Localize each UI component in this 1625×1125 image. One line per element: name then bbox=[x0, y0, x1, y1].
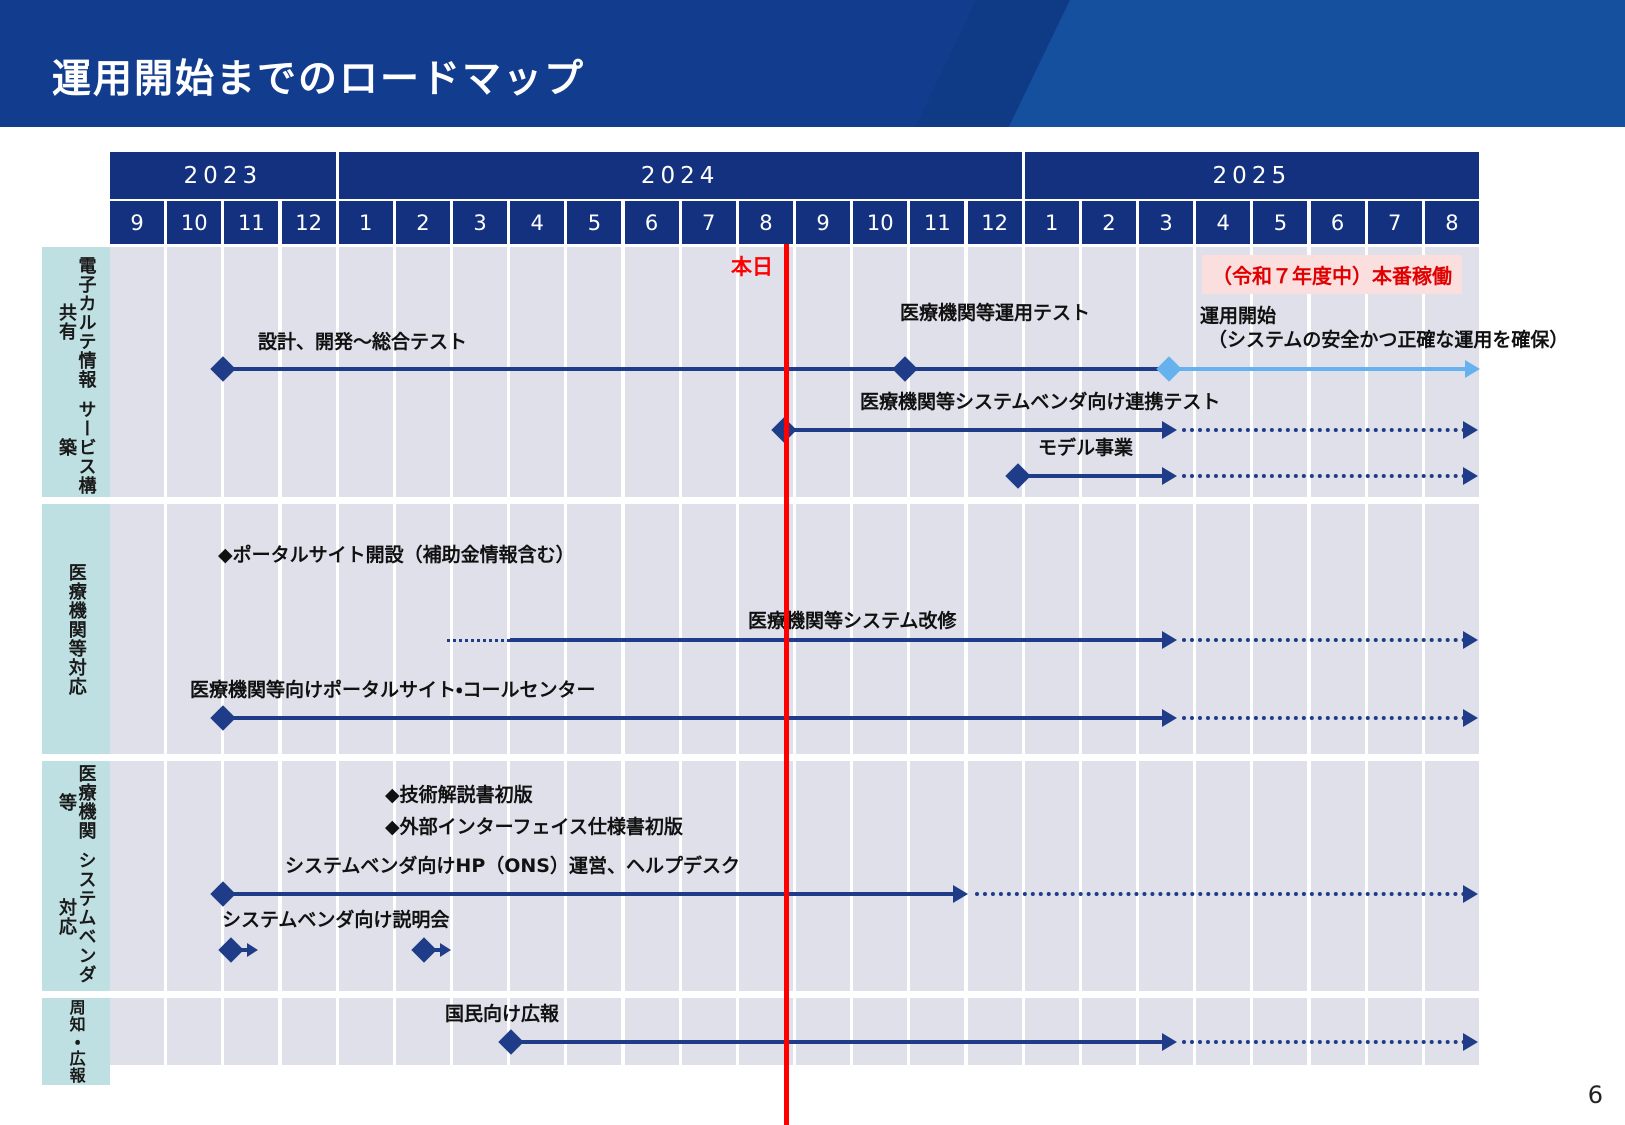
arrowhead-vendor-hp-ons-end bbox=[1463, 885, 1478, 903]
month-header-row: 910111212345678910111212345678 bbox=[110, 201, 1482, 244]
grid-column-0 bbox=[110, 247, 164, 1065]
category-label-iryo-kikan: 医療機関等対応 bbox=[42, 504, 110, 754]
task-label-operation-start-line2: （システムの安全かつ正確な運用を確保） bbox=[1208, 329, 1568, 353]
month-cell-21: 6 bbox=[1311, 201, 1365, 244]
arrowhead-model-project bbox=[1162, 467, 1177, 485]
arrowhead-public-pr-end bbox=[1463, 1033, 1478, 1051]
category-text-denshi-karte-2: サービス構築 bbox=[57, 397, 96, 497]
band-separator-2 bbox=[110, 991, 1482, 998]
bar-system-kaishu-continuation bbox=[1182, 638, 1466, 642]
month-cell-14: 11 bbox=[910, 201, 964, 244]
month-cell-9: 6 bbox=[625, 201, 679, 244]
today-marker-label: 本日 bbox=[731, 251, 773, 281]
arrowhead-public-pr bbox=[1162, 1033, 1177, 1051]
task-label-system-kaishu: 医療機関等システム改修 bbox=[748, 610, 956, 634]
category-text-vendor-2: システムベンダ対応 bbox=[57, 843, 96, 991]
month-cell-20: 5 bbox=[1253, 201, 1307, 244]
year-cell-2025: 2025 bbox=[1025, 152, 1479, 199]
month-cell-5: 2 bbox=[396, 201, 450, 244]
bar-vendor-link-test-continuation bbox=[1182, 428, 1466, 432]
bar-public-pr-continuation bbox=[1182, 1040, 1466, 1044]
arrowhead-vendor-briefing-1 bbox=[247, 943, 258, 957]
today-marker-line bbox=[784, 244, 789, 1125]
month-cell-10: 7 bbox=[682, 201, 736, 244]
bar-model-project bbox=[1018, 474, 1162, 478]
title-banner: 運用開始までのロードマップ bbox=[0, 0, 1625, 127]
bar-medical-op-test bbox=[905, 367, 1161, 371]
milestone-label-portal-site: ◆ポータルサイト開設（補助金情報含む） bbox=[218, 544, 575, 568]
month-cell-23: 8 bbox=[1425, 201, 1479, 244]
band-separator-1 bbox=[110, 754, 1482, 761]
month-cell-0: 9 bbox=[110, 201, 164, 244]
category-label-shuchi-koho: 周知・ 広報 bbox=[42, 998, 110, 1085]
month-cell-6: 3 bbox=[453, 201, 507, 244]
month-cell-19: 4 bbox=[1196, 201, 1250, 244]
category-label-denshi-karte: 電子カルテ情報共有 サービス構築 bbox=[42, 247, 110, 497]
category-text-iryo-kikan-1: 医療機関等対応 bbox=[66, 563, 85, 696]
bar-vendor-link-test bbox=[784, 428, 1162, 432]
bar-design-dev-test bbox=[223, 367, 905, 371]
band-separator-0 bbox=[110, 497, 1482, 504]
year-cell-2023: 2023 bbox=[110, 152, 336, 199]
bar-model-project-continuation bbox=[1182, 474, 1466, 478]
month-cell-15: 12 bbox=[968, 201, 1022, 244]
bar-portal-callcenter bbox=[223, 716, 1162, 720]
category-text-vendor-1: 医療機関等 bbox=[57, 761, 96, 843]
page-title: 運用開始までのロードマップ bbox=[52, 48, 585, 104]
month-cell-2: 11 bbox=[224, 201, 278, 244]
bar-vendor-briefing-2 bbox=[425, 948, 441, 952]
task-label-vendor-hp-ons: システムベンダ向けHP（ONS）運営、ヘルプデスク bbox=[285, 855, 740, 879]
arrowhead-portal-callcenter bbox=[1162, 709, 1177, 727]
task-label-model-project: モデル事業 bbox=[1038, 437, 1133, 461]
month-cell-16: 1 bbox=[1025, 201, 1079, 244]
bar-portal-callcenter-continuation bbox=[1182, 716, 1466, 720]
bar-vendor-hp-ons-continuation bbox=[975, 892, 1466, 896]
task-label-medical-op-test: 医療機関等運用テスト bbox=[900, 302, 1090, 326]
task-label-portal-callcenter: 医療機関等向けポータルサイト・コールセンター bbox=[190, 679, 595, 703]
gantt-plot-area: 設計、開発〜総合テスト 医療機関等運用テスト 運用開始 （システムの安全かつ正確… bbox=[110, 247, 1482, 1065]
month-cell-11: 8 bbox=[739, 201, 793, 244]
arrowhead-system-kaishu bbox=[1162, 631, 1177, 649]
category-text-denshi-karte-1: 電子カルテ情報共有 bbox=[57, 247, 96, 397]
category-text-shuchi-koho-1: 周知・ bbox=[67, 999, 84, 1050]
bar-system-kaishu-lead bbox=[447, 639, 510, 642]
year-cell-2024: 2024 bbox=[339, 152, 1022, 199]
bar-vendor-hp-ons bbox=[223, 892, 953, 896]
arrowhead-vendor-link-test bbox=[1162, 421, 1177, 439]
month-cell-17: 2 bbox=[1082, 201, 1136, 244]
arrowhead-vendor-hp-ons bbox=[953, 885, 968, 903]
month-cell-22: 7 bbox=[1368, 201, 1422, 244]
bar-operation-start bbox=[1169, 367, 1466, 371]
category-label-vendor: 医療機関等 システムベンダ対応 bbox=[42, 761, 110, 991]
month-cell-8: 5 bbox=[567, 201, 621, 244]
bar-public-pr bbox=[511, 1040, 1162, 1044]
task-label-vendor-link-test: 医療機関等システムベンダ向け連携テスト bbox=[860, 391, 1220, 415]
arrowhead-operation-start bbox=[1465, 360, 1480, 378]
page-number: 6 bbox=[1588, 1081, 1603, 1109]
year-header-row: 202320242025 bbox=[110, 152, 1482, 199]
arrowhead-model-project-end bbox=[1463, 467, 1478, 485]
arrowhead-vendor-link-test-end bbox=[1463, 421, 1478, 439]
category-text-shuchi-koho-2: 広報 bbox=[67, 1050, 84, 1084]
month-cell-13: 10 bbox=[853, 201, 907, 244]
task-label-operation-start-line1: 運用開始 bbox=[1200, 305, 1276, 329]
month-cell-1: 10 bbox=[167, 201, 221, 244]
bar-vendor-briefing-1 bbox=[232, 948, 248, 952]
month-cell-7: 4 bbox=[510, 201, 564, 244]
callout-honban-kado: （令和７年度中）本番稼働 bbox=[1202, 255, 1462, 294]
milestone-label-tech-doc: ◆技術解説書初版 bbox=[385, 784, 533, 808]
arrowhead-system-kaishu-end bbox=[1463, 631, 1478, 649]
month-cell-12: 9 bbox=[796, 201, 850, 244]
milestone-label-interface-spec: ◆外部インターフェイス仕様書初版 bbox=[385, 816, 683, 840]
arrowhead-vendor-briefing-2 bbox=[440, 943, 451, 957]
arrowhead-portal-callcenter-end bbox=[1463, 709, 1478, 727]
task-label-public-pr: 国民向け広報 bbox=[445, 1003, 559, 1027]
month-cell-3: 12 bbox=[282, 201, 336, 244]
month-cell-4: 1 bbox=[339, 201, 393, 244]
bar-system-kaishu bbox=[510, 638, 1162, 642]
month-cell-18: 3 bbox=[1139, 201, 1193, 244]
task-label-design-dev-test: 設計、開発〜総合テスト bbox=[258, 331, 467, 355]
roadmap-chart: 202320242025 910111212345678910111212345… bbox=[0, 127, 1625, 1125]
task-label-vendor-briefing: システムベンダ向け説明会 bbox=[222, 909, 449, 933]
